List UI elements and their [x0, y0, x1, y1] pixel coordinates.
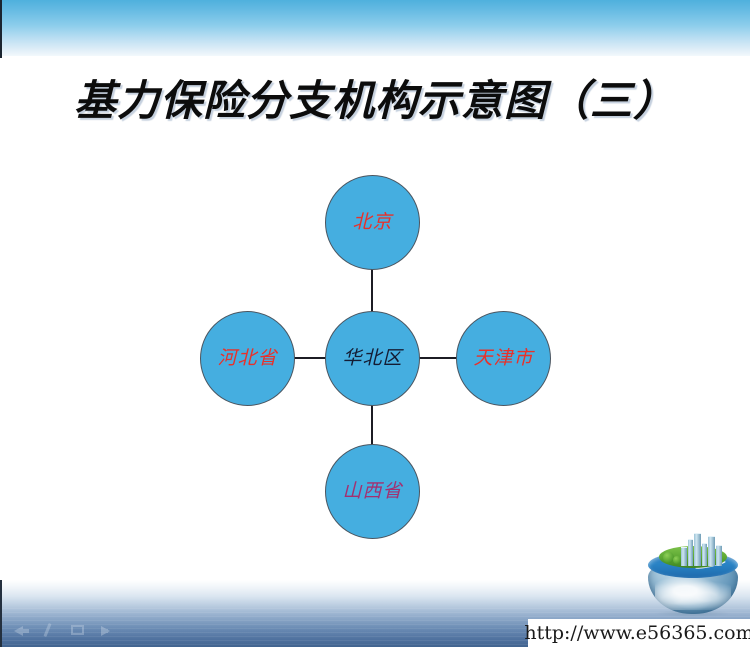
node-tianjin-label: 天津市 [473, 349, 533, 368]
connector-center-beijing [371, 267, 373, 315]
node-beijing[interactable]: 北京 [325, 175, 420, 270]
slide-left-border-bottom [0, 580, 2, 647]
pen-tool-button[interactable] [42, 623, 58, 637]
arrow-right-icon [101, 626, 110, 636]
node-hebei-label: 河北省 [217, 349, 277, 368]
next-slide-button[interactable] [98, 623, 114, 637]
city-skyline-icon [681, 532, 725, 566]
node-shanxi-label: 山西省 [342, 482, 402, 501]
node-tianjin[interactable]: 天津市 [456, 311, 551, 406]
arrow-left-icon [14, 626, 23, 636]
pen-icon [43, 623, 51, 637]
slide-header-gradient [0, 0, 750, 60]
node-beijing-label: 北京 [352, 213, 392, 232]
node-shanxi[interactable]: 山西省 [325, 444, 420, 539]
building [688, 539, 693, 566]
connector-center-tianjin [417, 357, 459, 359]
presentation-slide: 基力保险分支机构示意图（三） 北京 河北省 华北区 天津市 山西省 [0, 0, 750, 647]
org-diagram: 北京 河北省 华北区 天津市 山西省 [185, 175, 575, 545]
rectangle-icon [71, 625, 84, 635]
slideshow-controls [14, 620, 124, 640]
slide-title: 基力保险分支机构示意图（三） [0, 62, 750, 132]
building [694, 533, 701, 566]
building [681, 547, 687, 566]
node-north-china-region-label: 华北区 [342, 349, 402, 368]
slide-left-border-top [0, 0, 2, 58]
connector-center-shanxi [371, 403, 373, 448]
watermark-url: http://www.e56365.com [528, 619, 750, 647]
slide-menu-button[interactable] [70, 623, 86, 637]
node-north-china-region[interactable]: 华北区 [325, 311, 420, 406]
building [716, 545, 722, 566]
globe-city-illustration [645, 532, 741, 617]
building [708, 536, 715, 566]
node-hebei[interactable]: 河北省 [200, 311, 295, 406]
previous-slide-button[interactable] [14, 623, 30, 637]
building [702, 543, 707, 566]
tree-icon [673, 556, 681, 564]
